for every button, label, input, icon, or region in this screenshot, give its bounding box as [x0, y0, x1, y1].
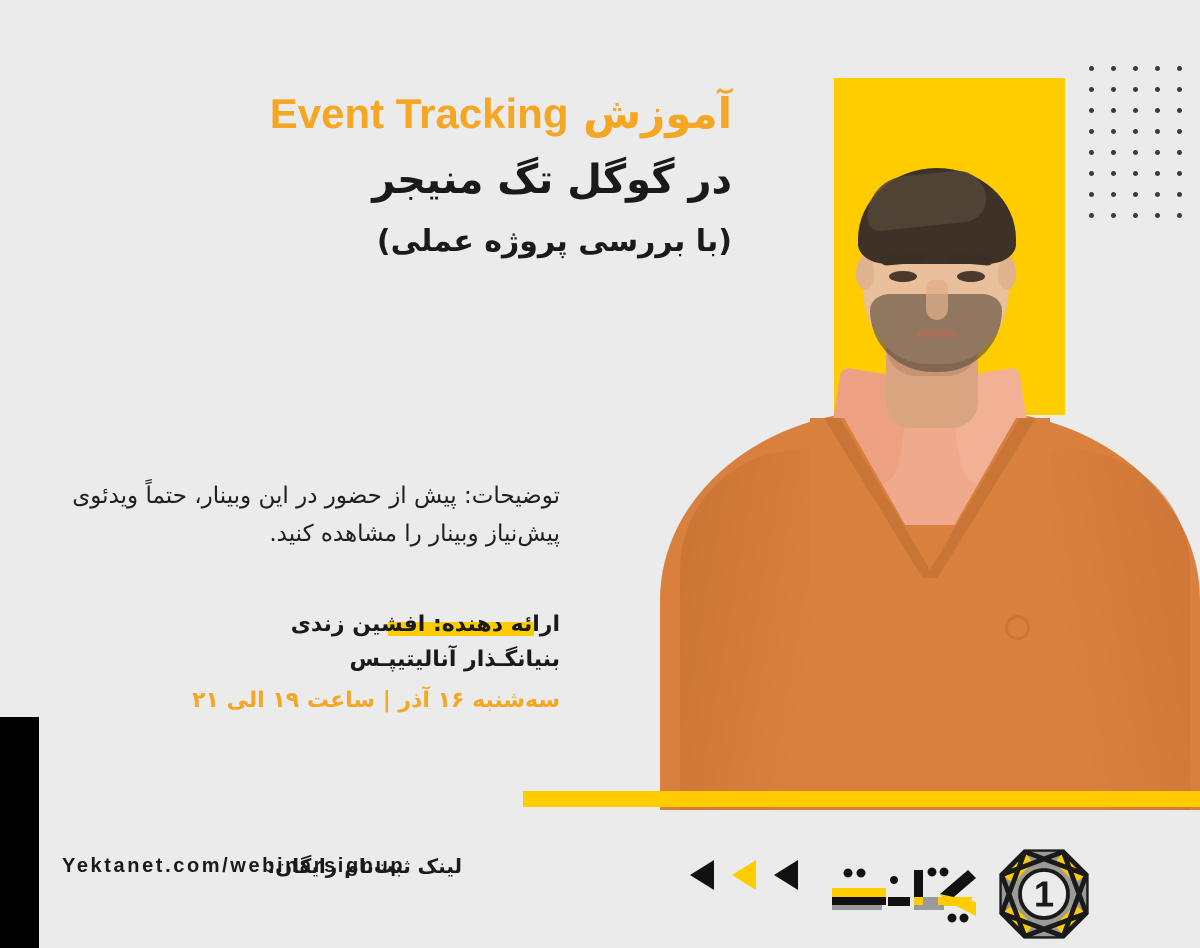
grid-dot	[1133, 108, 1138, 113]
grid-dot	[1155, 87, 1160, 92]
headline-english-term: Event Tracking	[270, 90, 569, 137]
webinar-schedule: سه‌شنبه ۱۶ آذر | ساعت ۱۹ الی ۲۱	[60, 678, 560, 724]
grid-dot	[1111, 108, 1116, 113]
grid-dot	[1089, 129, 1094, 134]
grid-dot	[1133, 129, 1138, 134]
grid-dot	[1089, 108, 1094, 113]
grid-dot	[1111, 87, 1116, 92]
description-text: توضیحات: پیش از حضور در این وبینار، حتما…	[60, 478, 560, 554]
grid-dot	[1089, 87, 1094, 92]
headline-line-1: آموزش Event Tracking	[192, 88, 732, 141]
grid-dot	[1155, 108, 1160, 113]
eye-right	[957, 271, 985, 282]
presenter-role: بنیانگـذار آنالیتیپـس	[60, 641, 560, 678]
mouth	[917, 330, 957, 338]
triangle-left-icon	[774, 860, 798, 890]
yektanet-badge-icon: 1	[996, 846, 1092, 942]
grid-dot	[1111, 66, 1116, 71]
yektanet-wordmark-icon	[828, 856, 988, 926]
triangle-left-icon	[690, 860, 714, 890]
desk-yellow-bar	[523, 791, 1200, 807]
headline-group: آموزش Event Tracking در گوگل تگ منیجر (ب…	[192, 88, 732, 263]
presenter-photo	[660, 150, 1200, 800]
signup-label: لینک ثبت‌نام رایگان:	[267, 854, 462, 878]
grid-dot	[1155, 129, 1160, 134]
sweater-chest-logo	[1005, 615, 1030, 640]
nose	[926, 280, 948, 320]
presenter-info-group: ارائه دهنده: افشین زندی بنیانگـذار آنالی…	[60, 608, 560, 725]
footer-bar: Yektanet.com/webinarsignup لینک ثبت‌نام …	[0, 828, 1200, 948]
grid-dot	[1133, 66, 1138, 71]
webinar-promo-banner: آموزش Event Tracking در گوگل تگ منیجر (ب…	[0, 0, 1200, 948]
arrow-group	[690, 860, 798, 890]
grid-dot	[1177, 66, 1182, 71]
badge-number: 1	[1034, 874, 1054, 915]
grid-dot	[1177, 108, 1182, 113]
headline-line-2: در گوگل تگ منیجر	[192, 153, 732, 207]
yektanet-brand: 1	[828, 842, 1188, 938]
grid-dot	[1155, 66, 1160, 71]
eye-left	[889, 271, 917, 282]
grid-dot	[1177, 129, 1182, 134]
grid-dot	[1133, 87, 1138, 92]
presenter-name: ارائه دهنده: افشین زندی	[60, 608, 560, 641]
grid-dot	[1111, 129, 1116, 134]
headline-prefix: آموزش	[569, 89, 733, 138]
headline-line-3: (با بررسی پروژه عملی)	[192, 221, 732, 263]
triangle-left-yellow-icon	[732, 860, 756, 890]
grid-dot	[1089, 66, 1094, 71]
grid-dot	[1177, 87, 1182, 92]
